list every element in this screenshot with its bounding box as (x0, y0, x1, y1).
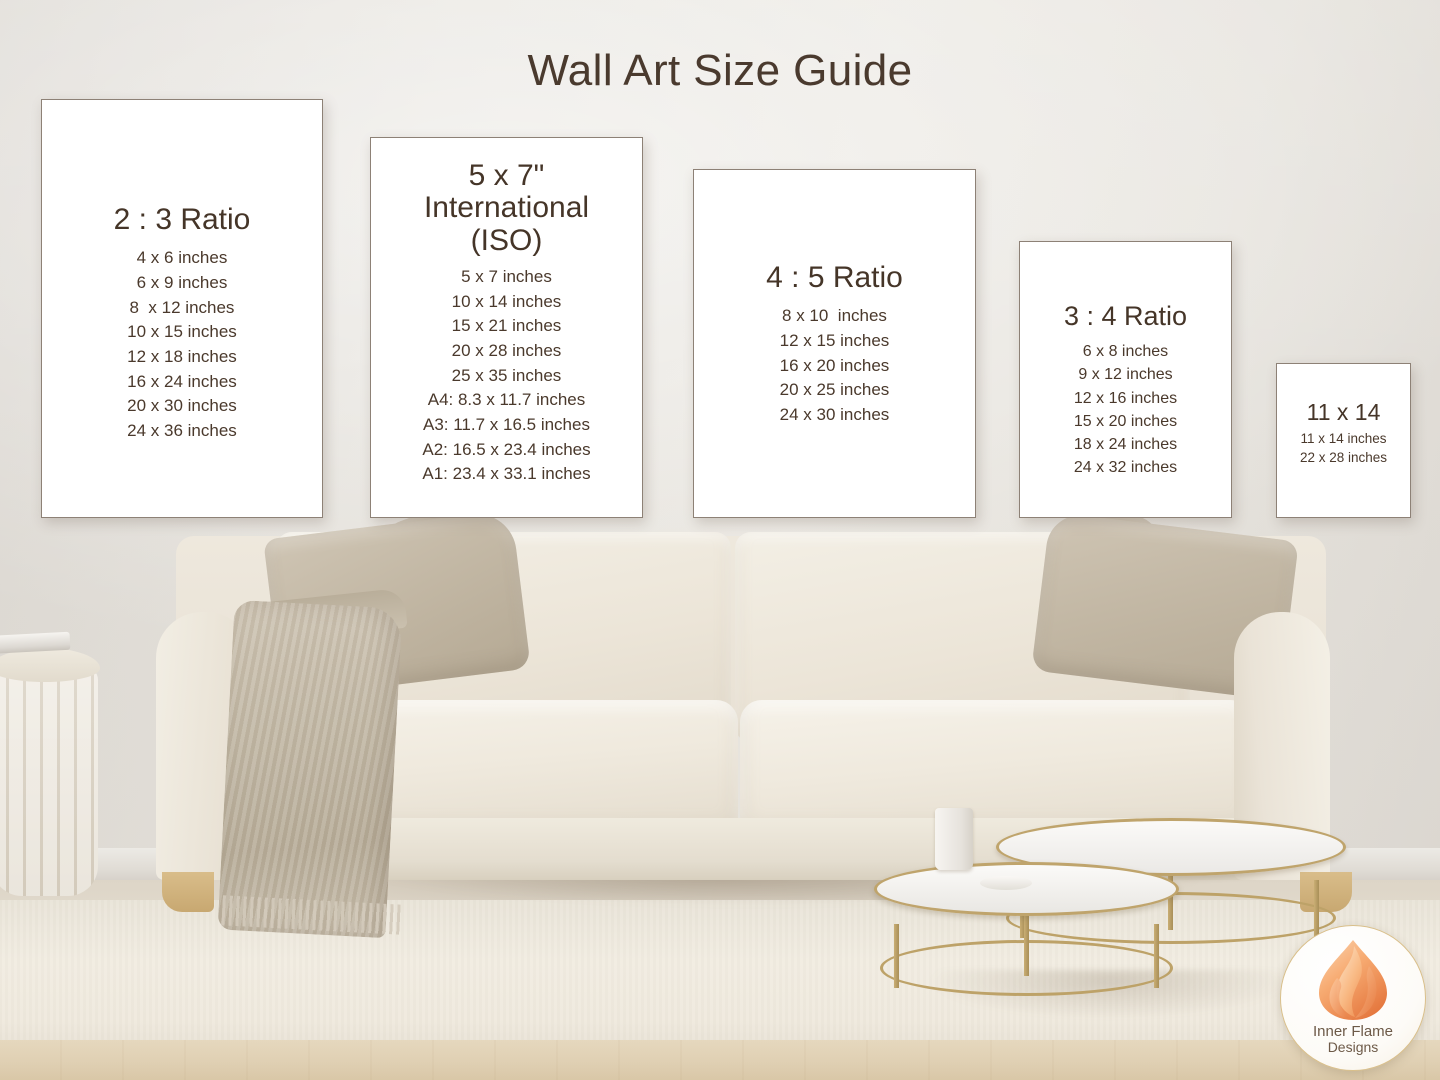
poster-size-item: 20 x 28 inches (422, 339, 590, 364)
poster-frame-size-11-14[interactable]: 11 x 14 11 x 14 inches22 x 28 inches (1276, 363, 1411, 518)
wood-floorboards (0, 1040, 1440, 1080)
sofa-leg-left (162, 872, 214, 912)
side-table-body (0, 666, 98, 896)
poster-heading: 11 x 14 (1307, 400, 1381, 425)
poster-size-item: 15 x 21 inches (422, 314, 590, 339)
poster-size-list: 6 x 8 inches9 x 12 inches12 x 16 inches1… (1074, 340, 1177, 479)
poster-frame-international-iso[interactable]: 5 x 7" International (ISO) 5 x 7 inches1… (370, 137, 643, 518)
brand-name-line2: Designs (1313, 1040, 1393, 1055)
poster-frame-ratio-2-3[interactable]: 2 : 3 Ratio 4 x 6 inches6 x 9 inches8 x … (41, 99, 323, 518)
poster-size-item: A4: 8.3 x 11.7 inches (422, 388, 590, 413)
poster-size-item: A2: 16.5 x 23.4 inches (422, 438, 590, 463)
poster-size-item: 10 x 15 inches (127, 320, 237, 345)
decorative-dish (980, 876, 1032, 890)
poster-size-item: 18 x 24 inches (1074, 433, 1177, 456)
brand-name-line1: Inner Flame (1313, 1024, 1393, 1040)
brand-name: Inner Flame Designs (1313, 1024, 1393, 1054)
poster-size-item: 20 x 30 inches (127, 394, 237, 419)
poster-size-item: 24 x 30 inches (780, 403, 890, 428)
side-table (0, 648, 100, 898)
poster-frame-ratio-4-5[interactable]: 4 : 5 Ratio 8 x 10 inches12 x 15 inches1… (693, 169, 976, 518)
poster-size-item: A1: 23.4 x 33.1 inches (422, 462, 590, 487)
poster-size-item: 11 x 14 inches (1300, 429, 1387, 449)
poster-size-item: 8 x 12 inches (127, 296, 237, 321)
page-title: Wall Art Size Guide (0, 46, 1440, 96)
poster-size-list: 8 x 10 inches12 x 15 inches16 x 20 inche… (780, 304, 890, 427)
poster-size-item: 12 x 18 inches (127, 345, 237, 370)
poster-size-item: 25 x 35 inches (422, 364, 590, 389)
poster-size-item: 4 x 6 inches (127, 246, 237, 271)
poster-size-item: 16 x 20 inches (780, 354, 890, 379)
poster-heading: 4 : 5 Ratio (766, 262, 903, 294)
poster-size-item: 24 x 36 inches (127, 419, 237, 444)
poster-size-item: 22 x 28 inches (1300, 448, 1387, 468)
poster-size-list: 11 x 14 inches22 x 28 inches (1300, 429, 1387, 468)
vase (935, 808, 973, 870)
poster-size-item: 20 x 25 inches (780, 378, 890, 403)
poster-size-list: 5 x 7 inches10 x 14 inches15 x 21 inches… (422, 265, 590, 487)
flame-icon (1313, 938, 1393, 1022)
throw-blanket (217, 600, 402, 938)
poster-size-item: A3: 11.7 x 16.5 inches (422, 413, 590, 438)
poster-size-item: 6 x 9 inches (127, 271, 237, 296)
poster-frame-ratio-3-4[interactable]: 3 : 4 Ratio 6 x 8 inches9 x 12 inches12 … (1019, 241, 1232, 518)
poster-size-item: 24 x 32 inches (1074, 456, 1177, 479)
poster-size-item: 5 x 7 inches (422, 265, 590, 290)
poster-size-item: 9 x 12 inches (1074, 363, 1177, 386)
poster-heading: 3 : 4 Ratio (1064, 302, 1187, 331)
poster-size-item: 12 x 16 inches (1074, 387, 1177, 410)
poster-size-item: 15 x 20 inches (1074, 410, 1177, 433)
coffee-table-small-top (874, 862, 1179, 916)
brand-logo-badge[interactable]: Inner Flame Designs (1280, 925, 1426, 1071)
poster-heading: 5 x 7" International (ISO) (424, 160, 589, 257)
poster-size-item: 8 x 10 inches (780, 304, 890, 329)
poster-size-item: 10 x 14 inches (422, 290, 590, 315)
poster-size-item: 12 x 15 inches (780, 329, 890, 354)
side-table-top (0, 648, 100, 682)
poster-size-item: 6 x 8 inches (1074, 340, 1177, 363)
poster-size-item: 16 x 24 inches (127, 370, 237, 395)
poster-size-list: 4 x 6 inches6 x 9 inches8 x 12 inches10 … (127, 246, 237, 443)
poster-heading: 2 : 3 Ratio (114, 204, 251, 236)
